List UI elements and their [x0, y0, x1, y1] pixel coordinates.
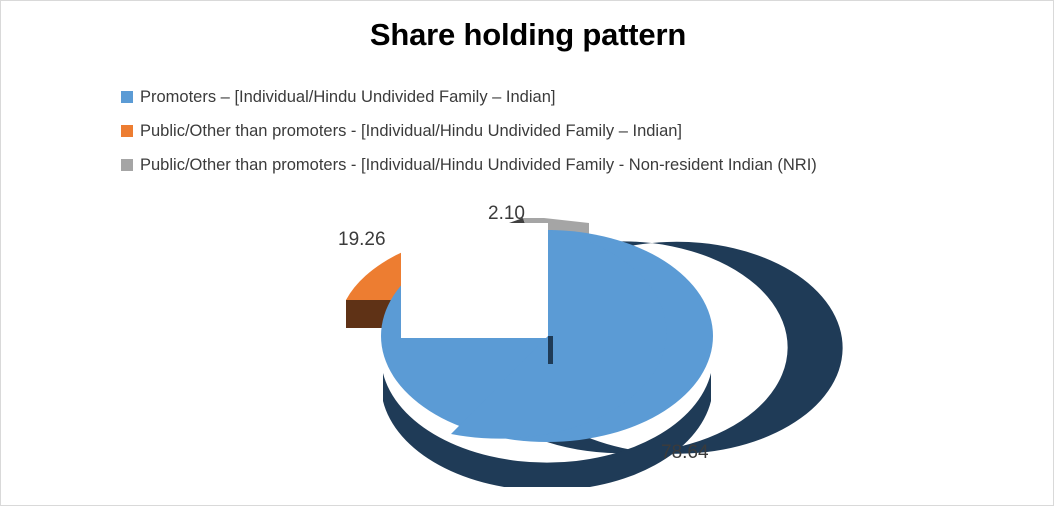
- pie-chart-plot: 2.10 19.26 78.64: [1, 187, 1054, 487]
- legend-item-public-indian[interactable]: Public/Other than promoters - [Individua…: [121, 119, 1001, 143]
- legend-label-public-nri: Public/Other than promoters - [Individua…: [140, 156, 817, 175]
- chart-legend: Promoters – [Individual/Hindu Undivided …: [121, 85, 1001, 187]
- data-label-public-indian: 19.26: [338, 229, 386, 251]
- chart-container: Share holding pattern Promoters – [Indiv…: [0, 0, 1054, 506]
- pie-chart-svg: [1, 187, 1054, 487]
- legend-swatch-orange-icon: [121, 125, 133, 137]
- legend-label-public-indian: Public/Other than promoters - [Individua…: [140, 122, 682, 141]
- legend-swatch-blue-icon: [121, 91, 133, 103]
- legend-item-public-nri[interactable]: Public/Other than promoters - [Individua…: [121, 153, 1001, 177]
- data-label-promoters: 78.64: [661, 442, 709, 464]
- pie-slice-promoters-notch-wall: [548, 336, 553, 364]
- legend-label-promoters: Promoters – [Individual/Hindu Undivided …: [140, 88, 555, 107]
- chart-title: Share holding pattern: [1, 17, 1054, 53]
- data-label-public-nri: 2.10: [488, 203, 525, 225]
- pie-slice-promoters[interactable]: [381, 223, 843, 487]
- legend-swatch-gray-icon: [121, 159, 133, 171]
- legend-item-promoters[interactable]: Promoters – [Individual/Hindu Undivided …: [121, 85, 1001, 109]
